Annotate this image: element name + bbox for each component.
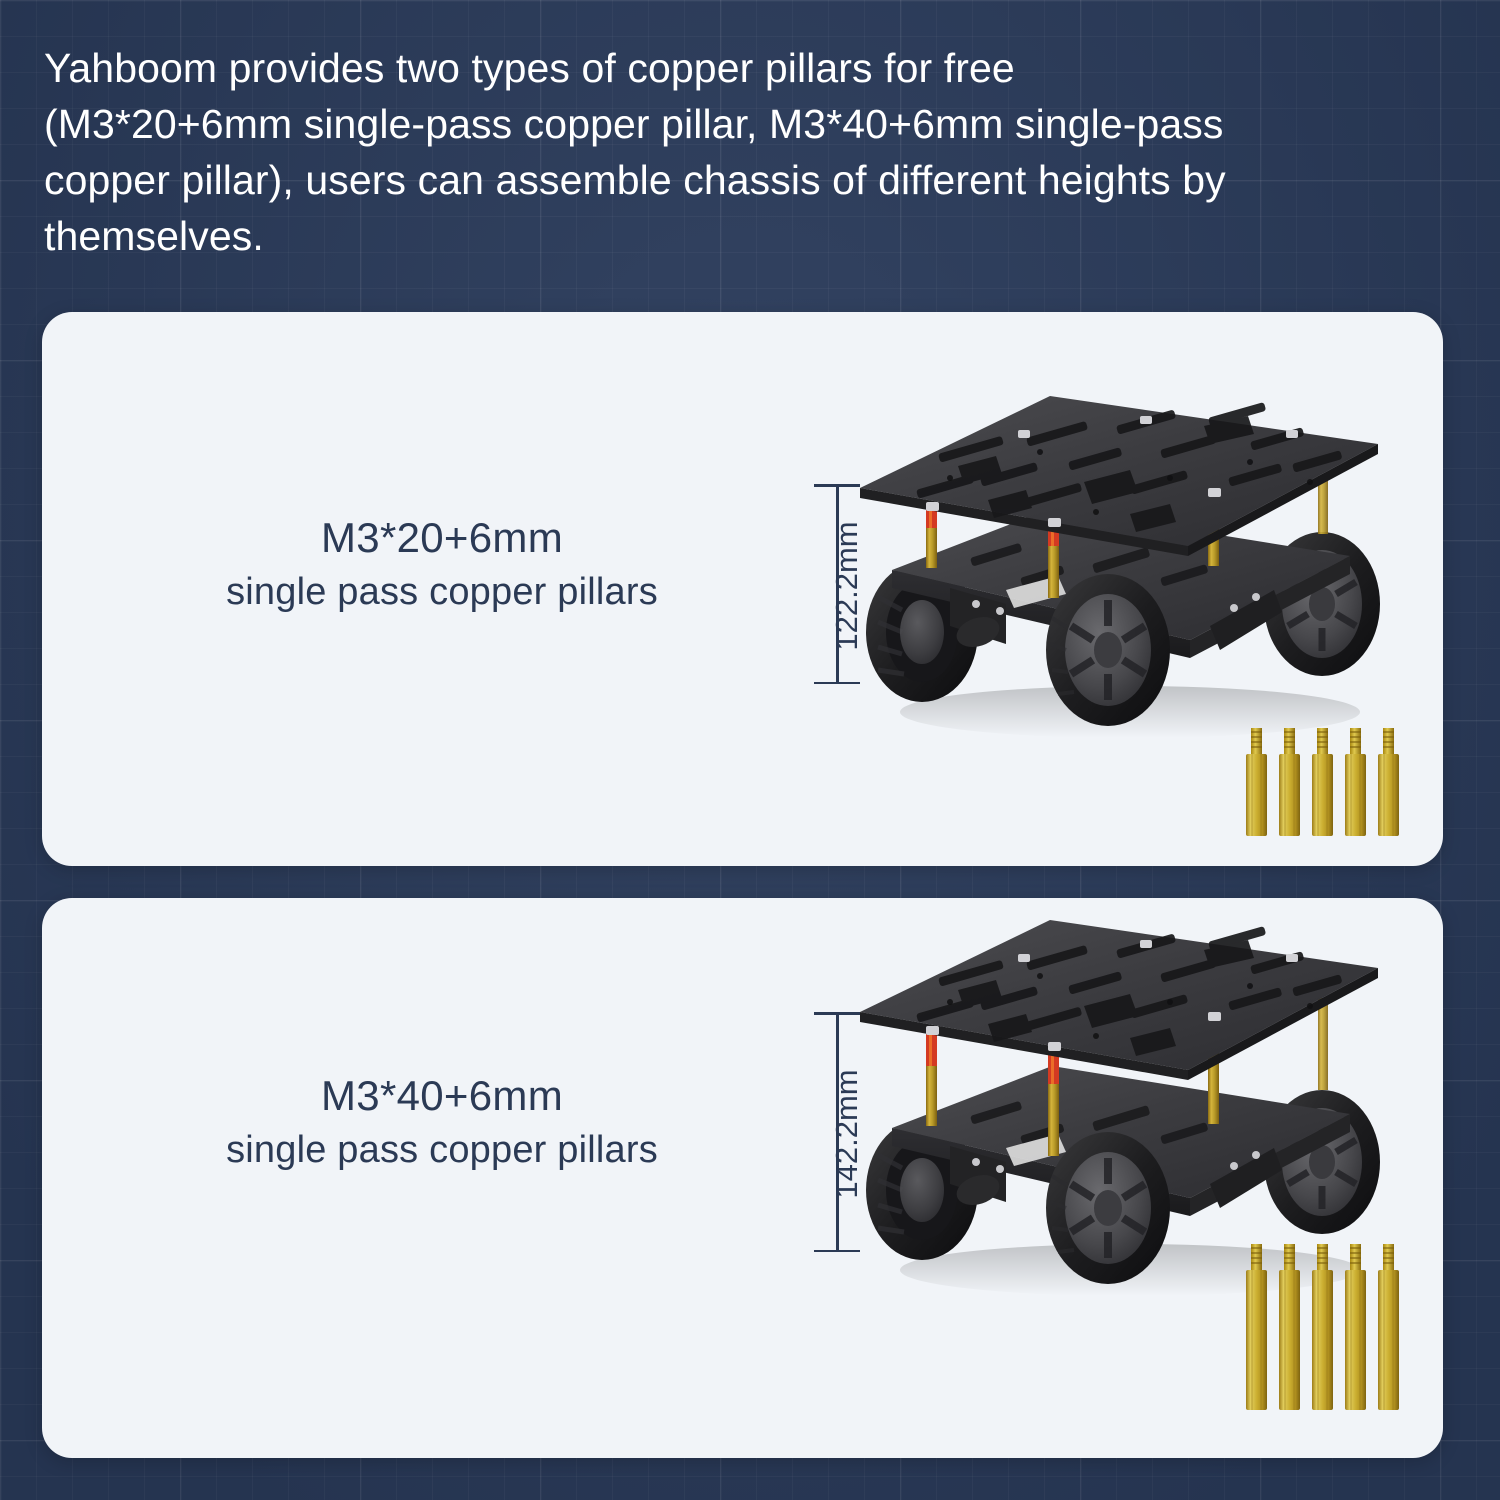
pillar-item <box>1279 1244 1300 1410</box>
robot-chassis-illustration-short <box>830 382 1410 752</box>
card-2-label: M3*40+6mm single pass copper pillars <box>112 1068 772 1176</box>
chassis-upper-plate <box>860 920 1378 1080</box>
mounted-copper-pillar-far <box>1318 998 1328 1090</box>
pillar-item <box>1246 728 1267 836</box>
card-2-label-line1: M3*40+6mm <box>112 1068 772 1125</box>
card-1-label: M3*20+6mm single pass copper pillars <box>112 510 772 618</box>
pillar-item <box>1345 728 1366 836</box>
mounted-copper-pillar-center <box>1048 524 1059 598</box>
pillar-item <box>1312 1244 1333 1410</box>
pillar-item <box>1378 1244 1399 1410</box>
copper-pillar-group-long <box>1245 1240 1415 1415</box>
pillar-item <box>1279 728 1300 836</box>
pillar-item <box>1246 1244 1267 1410</box>
card-1-label-line2: single pass copper pillars <box>112 567 772 618</box>
copper-pillar-group-short <box>1245 722 1415 842</box>
mounted-copper-pillar-left <box>926 508 937 568</box>
header-description: Yahboom provides two types of copper pil… <box>44 40 1464 264</box>
wheel-front-center <box>1046 574 1170 726</box>
card-1-label-line1: M3*20+6mm <box>112 510 772 567</box>
mounted-copper-pillar-left <box>926 1032 937 1126</box>
mounted-copper-pillar-center <box>1048 1048 1059 1156</box>
pillar-item <box>1345 1244 1366 1410</box>
chassis-upper-plate <box>860 396 1378 556</box>
pillar-item <box>1378 728 1399 836</box>
card-2-label-line2: single pass copper pillars <box>112 1125 772 1176</box>
wheel-front-center <box>1046 1132 1170 1284</box>
pillar-item <box>1312 728 1333 836</box>
